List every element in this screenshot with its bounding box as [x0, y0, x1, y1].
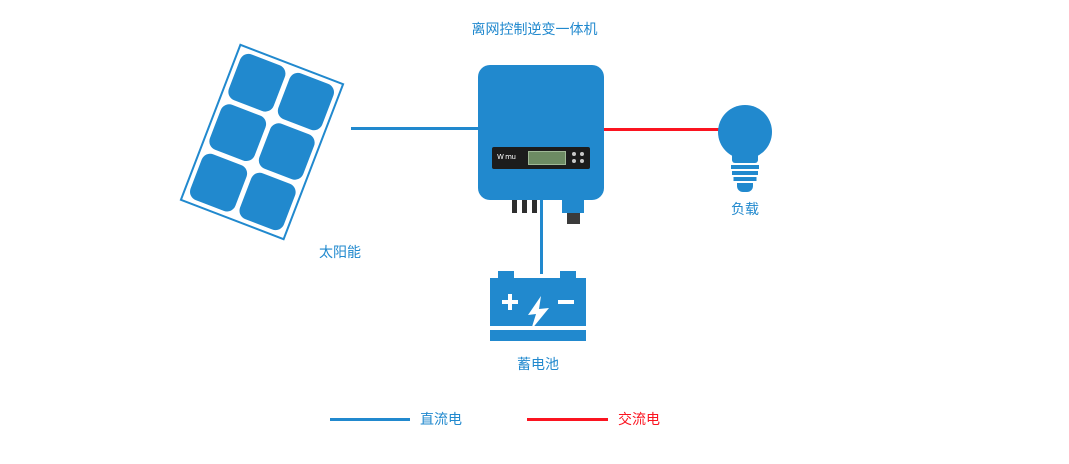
inverter-brand-logo: W mu — [497, 153, 523, 162]
bulb-screw-band — [734, 177, 757, 181]
inverter-body — [478, 65, 604, 200]
page-title: 离网控制逆变一体机 — [0, 20, 1069, 38]
legend-dc-line — [330, 418, 410, 421]
inverter-lcd-display — [528, 151, 566, 165]
diagram-canvas: 离网控制逆变一体机 太阳能 W mu — [0, 0, 1069, 464]
wire-inverter-to-battery — [540, 196, 543, 274]
inverter-button[interactable] — [580, 152, 584, 156]
bulb-glass — [718, 105, 772, 159]
battery-label: 蓄电池 — [475, 355, 601, 373]
bulb-screw-band — [732, 171, 758, 175]
legend-dc-label: 直流电 — [420, 410, 490, 428]
load-label: 负载 — [684, 200, 806, 218]
legend-ac-line — [527, 418, 608, 421]
inverter-ac-outlet-housing — [562, 197, 584, 213]
legend-ac-label: 交流电 — [618, 410, 688, 428]
solar-panel-icon — [180, 44, 345, 241]
bulb-tip — [737, 183, 753, 192]
inverter-control-panel: W mu — [492, 147, 590, 169]
solar-panel-cells — [187, 51, 336, 232]
wire-solar-to-inverter — [351, 127, 479, 130]
inverter-icon: W mu — [478, 65, 604, 200]
battery-base — [490, 330, 586, 341]
plus-icon — [502, 294, 518, 310]
wire-inverter-to-load — [601, 128, 721, 131]
bulb-screw-band — [731, 165, 759, 169]
light-bulb-icon — [714, 105, 776, 193]
inverter-button-group[interactable] — [572, 152, 586, 164]
inverter-dc-pin — [512, 200, 517, 213]
bulb-neck — [732, 153, 758, 163]
minus-icon — [558, 300, 574, 304]
inverter-dc-pin — [522, 200, 527, 213]
inverter-ac-plug — [567, 213, 580, 224]
inverter-dc-pin — [532, 200, 537, 213]
lightning-bolt-icon — [524, 296, 552, 330]
inverter-button[interactable] — [580, 159, 584, 163]
inverter-button[interactable] — [572, 159, 576, 163]
solar-panel-label: 太阳能 — [280, 243, 400, 261]
inverter-button[interactable] — [572, 152, 576, 156]
battery-body — [490, 278, 586, 326]
battery-icon — [490, 271, 586, 341]
